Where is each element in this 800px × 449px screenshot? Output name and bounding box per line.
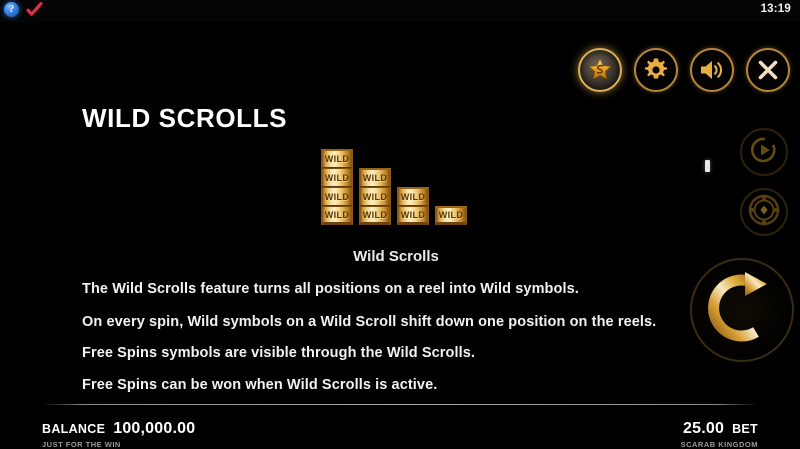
- wild-tile: WILD: [397, 187, 429, 206]
- bet-label: BET: [732, 422, 758, 436]
- balance-group: BALANCE 100,000.00: [42, 420, 195, 438]
- settings-button[interactable]: [634, 48, 678, 92]
- clock-label: 13:19: [761, 3, 791, 15]
- bet-button[interactable]: [740, 188, 788, 236]
- provider-label: JUST FOR THE WIN: [42, 440, 121, 449]
- feature-paragraph: Free Spins can be won when Wild Scrolls …: [82, 377, 437, 393]
- wild-tile: WILD: [321, 168, 353, 187]
- wild-tile: WILD: [321, 206, 353, 225]
- footer-bar: BALANCE 100,000.00 25.00 BET JUST FOR TH…: [0, 408, 800, 449]
- gear-icon: [643, 57, 669, 83]
- autoplay-icon: [749, 135, 779, 170]
- wild-tile: WILD: [321, 149, 353, 168]
- top-control-group: [578, 48, 790, 92]
- balance-label: BALANCE: [42, 422, 105, 436]
- sound-button[interactable]: [690, 48, 734, 92]
- wild-tile: WILD: [359, 206, 391, 225]
- close-x-icon: [757, 59, 779, 81]
- bet-value: 25.00: [683, 420, 724, 438]
- close-button[interactable]: [746, 48, 790, 92]
- speaker-icon: [699, 58, 725, 82]
- feature-paragraph: Free Spins symbols are visible through t…: [82, 345, 475, 361]
- balance-value: 100,000.00: [113, 420, 195, 438]
- page-title: WILD SCROLLS: [82, 103, 287, 134]
- wild-scroll-column-3: WILD WILD: [397, 187, 429, 225]
- star-scarab-icon: [587, 57, 613, 83]
- feature-paragraph: The Wild Scrolls feature turns all posit…: [82, 281, 579, 297]
- wild-scrolls-illustration: WILD WILD WILD WILD WILD WILD WILD WILD …: [321, 149, 467, 225]
- spin-button[interactable]: [690, 258, 794, 362]
- game-title-label: SCARAB KINGDOM: [681, 440, 758, 449]
- bet-group[interactable]: 25.00 BET: [683, 420, 758, 438]
- footer-divider: [42, 404, 758, 405]
- wild-tile: WILD: [359, 168, 391, 187]
- help-circle-icon[interactable]: ?: [4, 2, 19, 17]
- feature-paragraph: On every spin, Wild symbols on a Wild Sc…: [82, 314, 656, 330]
- browser-status-bar: ? 13:19: [0, 0, 800, 22]
- symbol-caption: Wild Scrolls: [353, 248, 439, 265]
- autoplay-button[interactable]: [740, 128, 788, 176]
- spin-arrow-icon: [698, 264, 786, 357]
- wild-scroll-column-2: WILD WILD WILD: [359, 168, 391, 225]
- paytable-button[interactable]: [578, 48, 622, 92]
- symbol-caption-row: Wild Scrolls: [0, 248, 800, 265]
- wild-scroll-column-4: WILD: [435, 206, 467, 225]
- status-icon-group: ?: [4, 2, 43, 17]
- red-check-icon: [26, 2, 43, 17]
- coin-chip-icon: [748, 194, 780, 231]
- wild-scroll-column-1: WILD WILD WILD WILD: [321, 149, 353, 225]
- wild-tile: WILD: [359, 187, 391, 206]
- wild-tile: WILD: [397, 206, 429, 225]
- page-indicator-dot[interactable]: [705, 160, 710, 172]
- wild-tile: WILD: [321, 187, 353, 206]
- wild-tile: WILD: [435, 206, 467, 225]
